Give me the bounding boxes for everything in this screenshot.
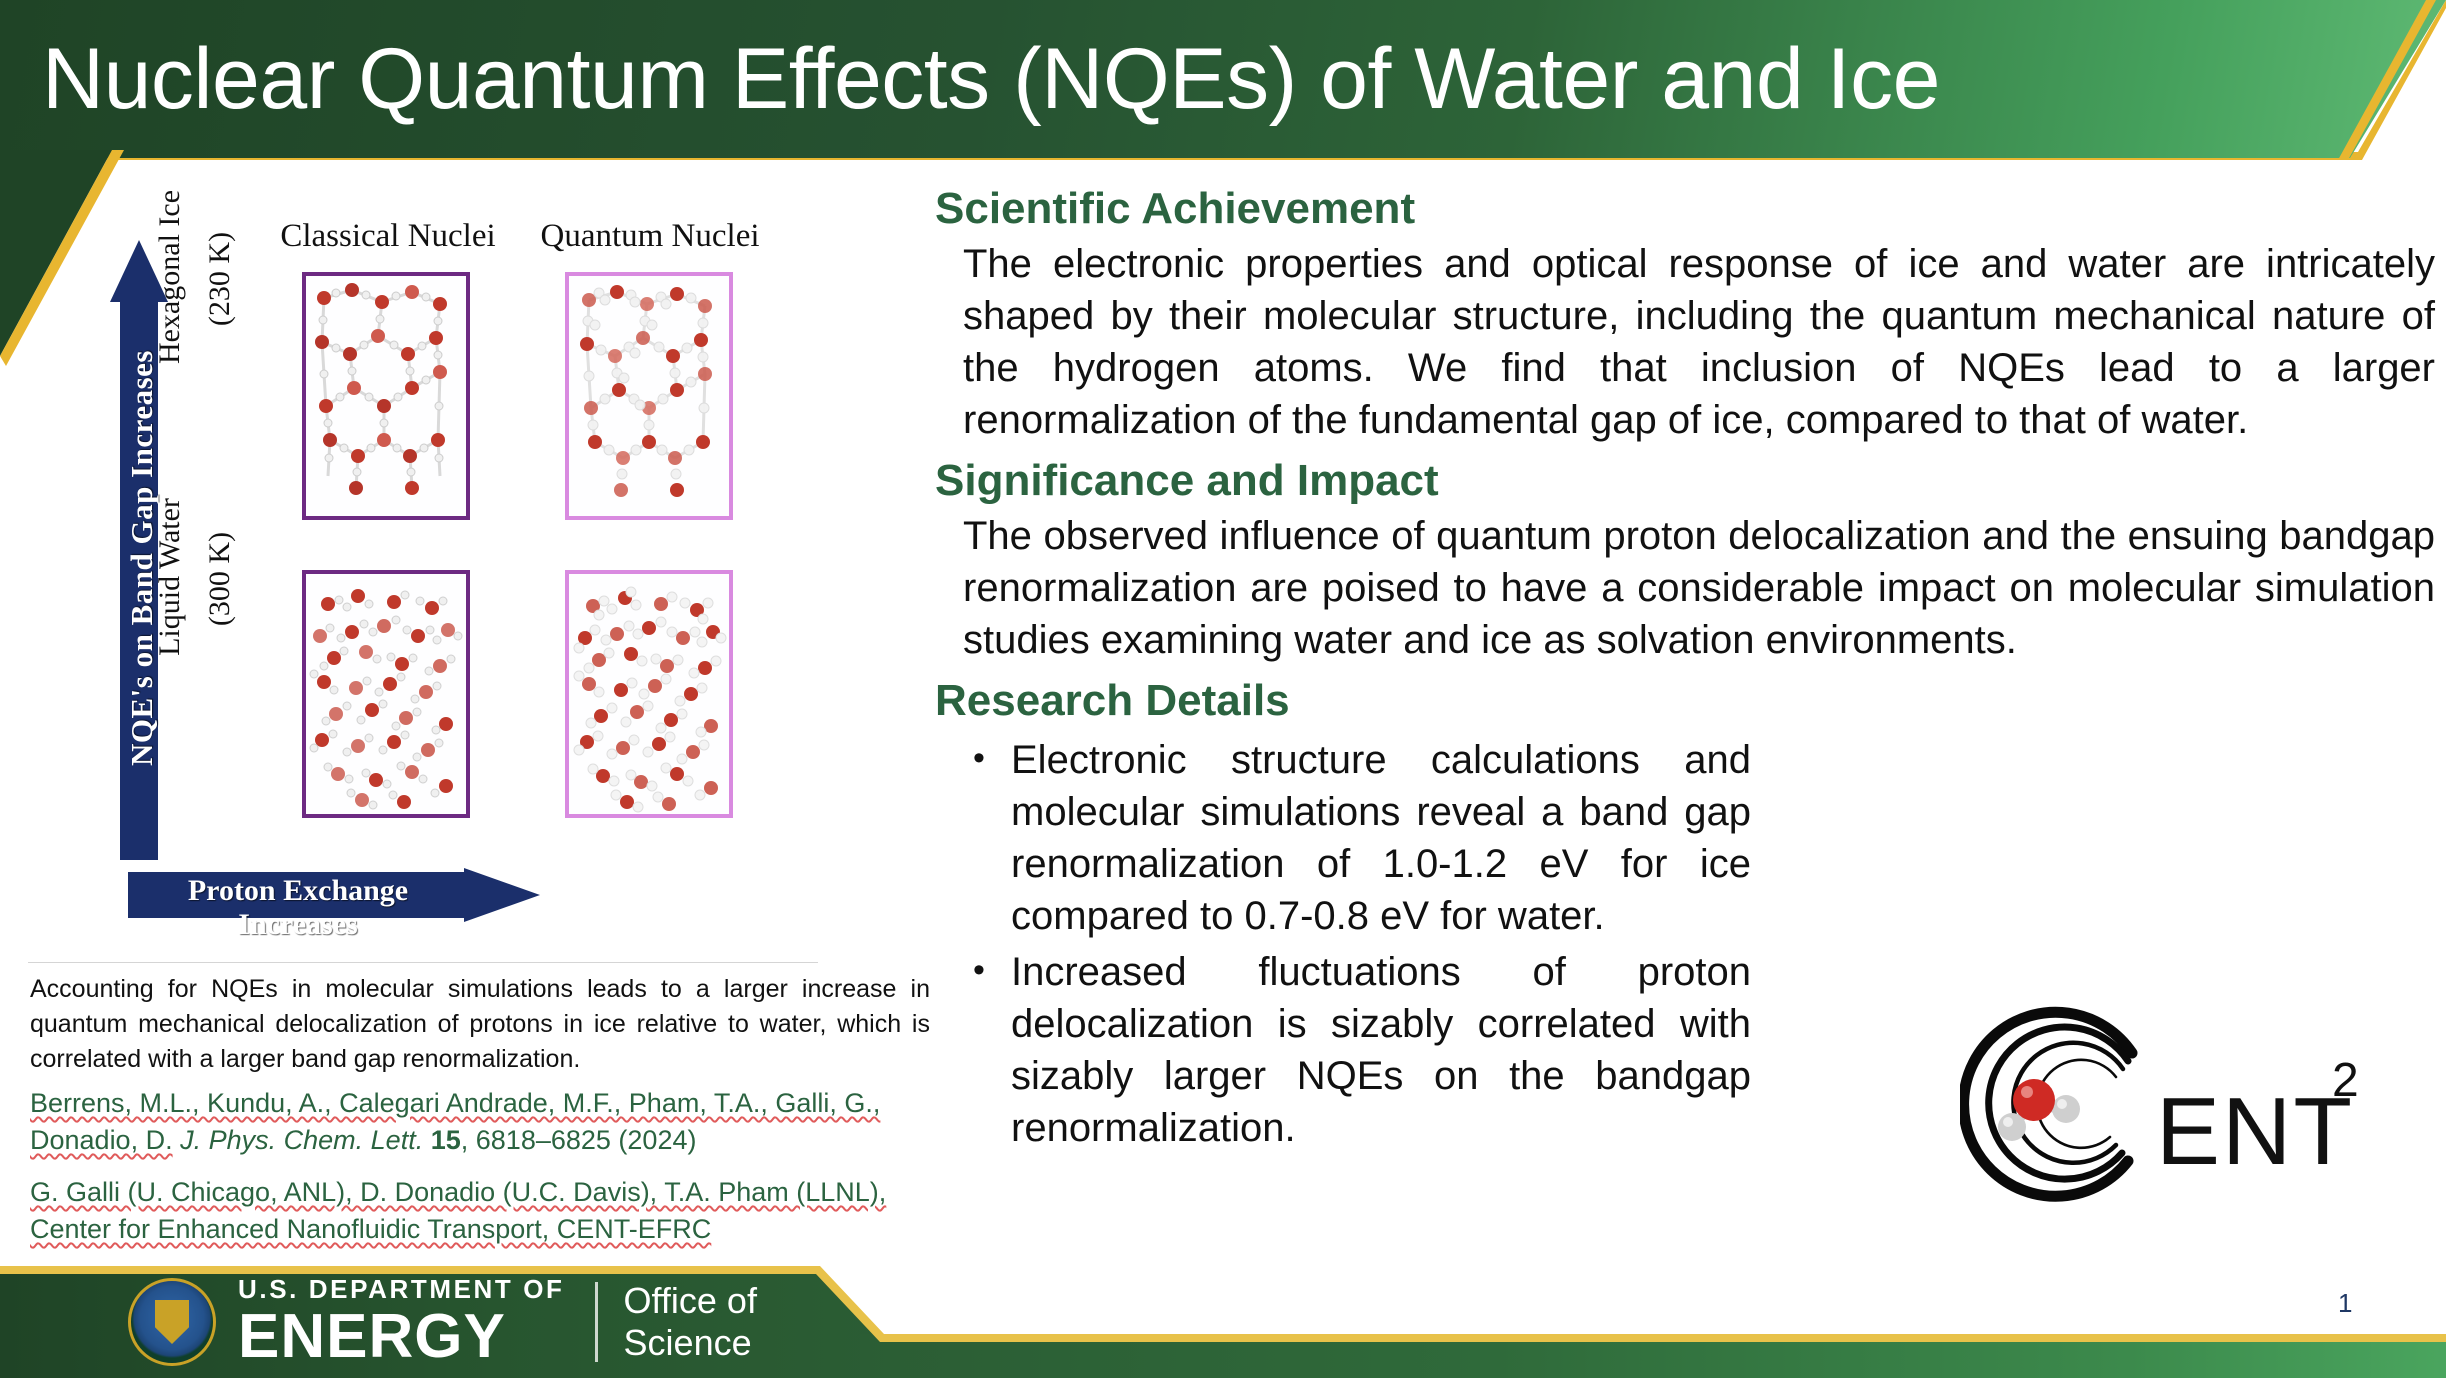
citation-affiliations: G. Galli (U. Chicago, ANL), D. Donadio (… bbox=[30, 1174, 960, 1248]
page-number: 1 bbox=[2338, 1288, 2352, 1319]
horizontal-arrow-label: Proton Exchange Increases bbox=[128, 874, 468, 942]
citation-journal: J. Phys. Chem. Lett. bbox=[180, 1125, 423, 1155]
cent2-logo-text: ENT bbox=[2156, 1077, 2354, 1187]
office-of-science-label: Office of Science bbox=[624, 1280, 757, 1364]
text-scientific-achievement: The electronic properties and optical re… bbox=[963, 238, 2435, 446]
doe-energy-label: ENERGY bbox=[238, 1306, 565, 1368]
citation-pages: , 6818–6825 (2024) bbox=[461, 1125, 697, 1155]
heading-significance-and-impact: Significance and Impact bbox=[935, 452, 2435, 510]
row-temp-300k: (300 K) bbox=[203, 369, 237, 789]
page-title: Nuclear Quantum Effects (NQEs) of Water … bbox=[42, 20, 2342, 138]
column-header-classical-nuclei: Classical Nuclei bbox=[258, 218, 518, 255]
row-label-liquid-water-name: Liquid Water bbox=[153, 367, 187, 787]
row-label-liquid-water-temp: (300 K) bbox=[203, 369, 237, 789]
water-classical-molecules-icon bbox=[306, 574, 466, 814]
doe-divider bbox=[595, 1282, 598, 1362]
citation-volume: 15 bbox=[431, 1125, 461, 1155]
panel-water-quantum bbox=[565, 570, 733, 818]
cent2-logo: ENT 2 bbox=[1960, 1005, 2380, 1225]
slide-canvas: Nuclear Quantum Effects (NQEs) of Water … bbox=[0, 0, 2446, 1378]
heading-scientific-achievement: Scientific Achievement bbox=[935, 180, 2435, 238]
citation-reference: Berrens, M.L., Kundu, A., Calegari Andra… bbox=[30, 1085, 960, 1159]
figure-caption: Accounting for NQEs in molecular simulat… bbox=[30, 972, 930, 1077]
office-of-line2: Science bbox=[624, 1322, 757, 1364]
doe-logo: U.S. DEPARTMENT OF ENERGY Office of Scie… bbox=[128, 1272, 757, 1372]
row-label-liquid-water: Liquid Water bbox=[153, 367, 187, 787]
doe-wordmark: U.S. DEPARTMENT OF ENERGY bbox=[238, 1276, 565, 1368]
doe-department-label: U.S. DEPARTMENT OF bbox=[238, 1276, 565, 1302]
list-item: Electronic structure calculations and mo… bbox=[935, 734, 1751, 942]
panel-ice-classical bbox=[302, 272, 470, 520]
doe-seal-icon bbox=[128, 1278, 216, 1366]
arrow-head-right-icon bbox=[464, 868, 540, 922]
ice-quantum-molecules-icon bbox=[569, 276, 729, 516]
water-quantum-molecules-icon bbox=[569, 574, 729, 814]
list-item: Increased fluctuations of proton delocal… bbox=[935, 946, 1751, 1154]
figure-panel: NQE's on Band Gap Increases Hexagonal Ic… bbox=[20, 230, 900, 930]
panel-ice-quantum bbox=[565, 272, 733, 520]
horizontal-arrow-proton-exchange: Proton Exchange Increases bbox=[128, 868, 540, 930]
text-significance-and-impact: The observed influence of quantum proton… bbox=[963, 510, 2435, 666]
heading-research-details: Research Details bbox=[935, 672, 2435, 730]
office-of-line1: Office of bbox=[624, 1280, 757, 1322]
water-molecule-icon bbox=[1998, 1079, 2080, 1141]
cent2-logo-superscript: 2 bbox=[2332, 1053, 2359, 1108]
caption-divider bbox=[28, 962, 818, 963]
column-header-quantum-nuclei: Quantum Nuclei bbox=[520, 218, 780, 255]
ice-classical-molecules-icon bbox=[306, 276, 466, 516]
panel-water-classical bbox=[302, 570, 470, 818]
